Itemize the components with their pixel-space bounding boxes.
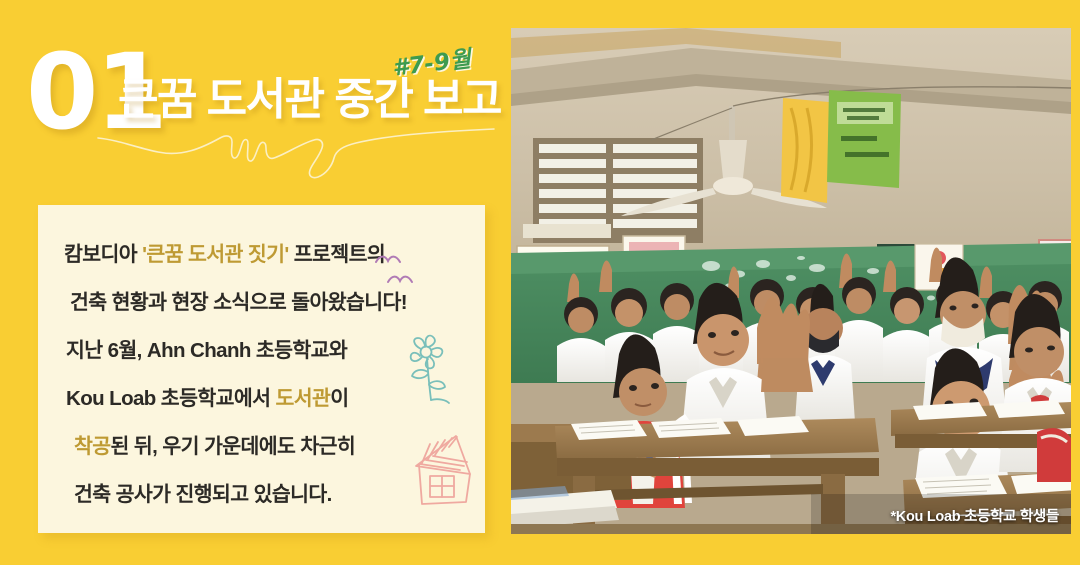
card-text-body: 캄보디아 '큰꿈 도서관 짓기' 프로젝트의 건축 현황과 현장 소식으로 돌아… — [64, 231, 465, 519]
card-line-1: 캄보디아 '큰꿈 도서관 짓기' 프로젝트의 — [64, 231, 465, 279]
card-line-5-seg-2: 된 뒤, 우기 가운데에도 차근히 — [111, 435, 356, 458]
card-line-1-seg-3: 프로젝트의 — [289, 243, 385, 266]
card-line-5: 착공된 뒤, 우기 가운데에도 차근히 — [64, 423, 465, 471]
card-line-4: Kou Loab 초등학교에서 도서관이 — [64, 375, 465, 423]
photo-caption: *Kou Loab 초등학교 학생들 — [890, 505, 1059, 526]
card-line-3-seg-1: 지난 6월, Ahn Chanh 초등학교와 — [66, 339, 347, 362]
page-title: 큰꿈 도서관 중간 보고 — [118, 78, 501, 122]
header: 01 큰꿈 도서관 중간 보고 #7-9월 — [0, 0, 511, 190]
intro-text-card: 캄보디아 '큰꿈 도서관 짓기' 프로젝트의 건축 현황과 현장 소식으로 돌아… — [38, 205, 485, 533]
card-line-5-seg-1: 착공 — [74, 435, 111, 458]
card-line-1-seg-2: '큰꿈 도서관 짓기' — [142, 243, 289, 266]
card-line-4-seg-3: 이 — [330, 387, 348, 410]
card-line-2: 건축 현황과 현장 소식으로 돌아왔습니다! — [64, 279, 465, 327]
card-line-1-seg-1: 캄보디아 — [64, 243, 142, 266]
classroom-students-photo: *Kou Loab 초등학교 학생들 — [511, 28, 1071, 534]
card-line-4-seg-2: 도서관 — [275, 387, 330, 410]
card-line-6: 건축 공사가 진행되고 있습니다. — [64, 471, 465, 519]
card-line-2-seg-1: 건축 현황과 현장 소식으로 돌아왔습니다! — [70, 291, 407, 314]
photo-illustration — [511, 28, 1071, 534]
card-line-6-seg-1: 건축 공사가 진행되고 있습니다. — [74, 483, 332, 506]
card-line-3: 지난 6월, Ahn Chanh 초등학교와 — [64, 327, 465, 375]
card-line-4-seg-1: Kou Loab 초등학교에서 — [66, 387, 275, 410]
poster-page: 01 큰꿈 도서관 중간 보고 #7-9월 캄보디아 '큰꿈 도서관 짓기' 프… — [0, 0, 1080, 565]
